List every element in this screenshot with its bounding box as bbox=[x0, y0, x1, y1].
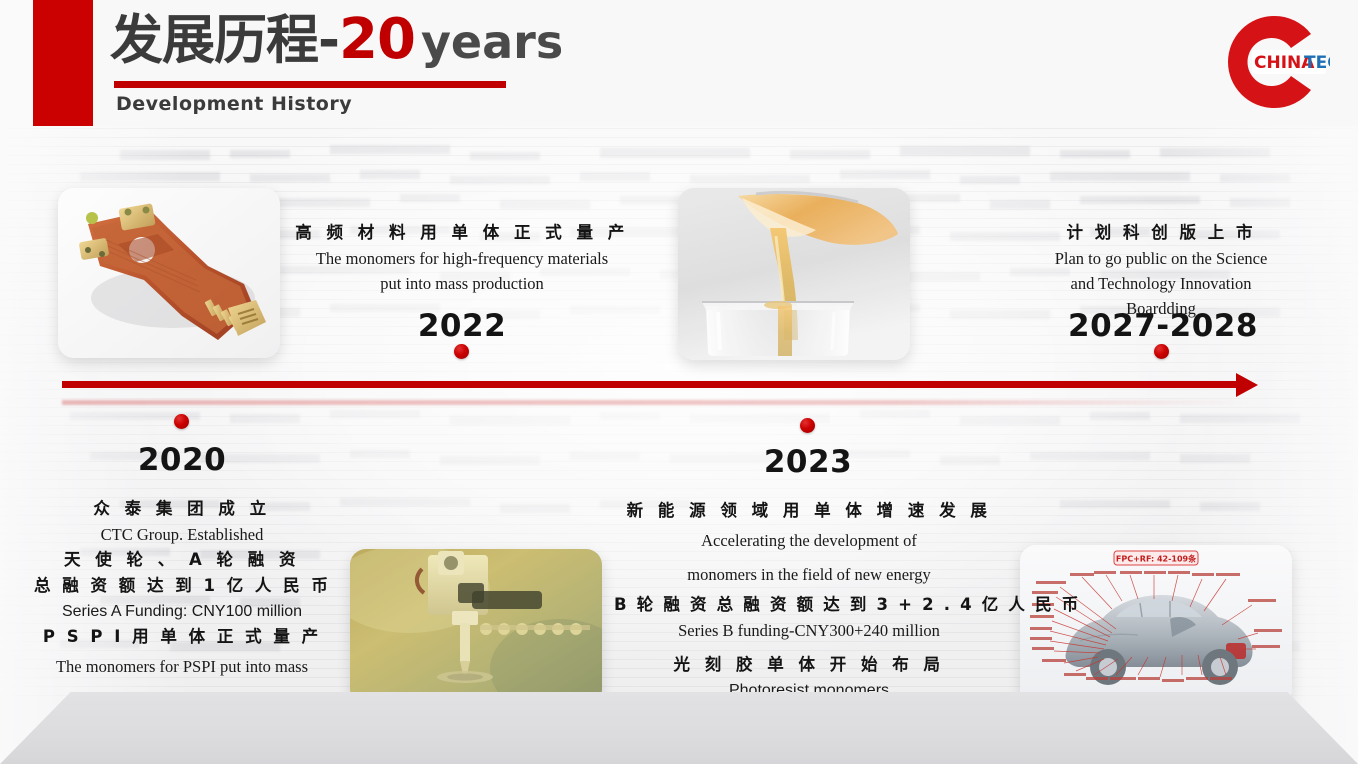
milestone-2022-text: 高 频 材 料 用 单 体 正 式 量 产 The monomers for h… bbox=[276, 220, 648, 296]
timeline-axis bbox=[62, 378, 1258, 394]
milestone-2027-line-0: 计 划 科 创 版 上 市 bbox=[1030, 220, 1292, 246]
milestone-2020-line-4: Series A Funding: CNY100 million bbox=[34, 599, 330, 624]
milestone-2023-line-3: B 轮 融 资 总 融 资 额 达 到 3 + 2 . 4 亿 人 民 币 bbox=[614, 592, 1004, 618]
slide-canvas: 发展历程-20years Development History CHINA T… bbox=[0, 0, 1358, 764]
timeline-axis-reflection bbox=[62, 400, 1252, 405]
dispensing-machine-photo bbox=[350, 549, 602, 705]
fpc-flex-circuit-photo bbox=[58, 188, 280, 358]
title-group: 发展历程-20years Development History bbox=[110, 8, 563, 115]
timeline-dot-2022[interactable] bbox=[454, 344, 469, 359]
chinatech-logo[interactable]: CHINA TECH bbox=[1218, 8, 1330, 116]
milestone-2020-line-5: P S P I 用 单 体 正 式 量 产 bbox=[34, 624, 330, 650]
page-title: 发展历程-20years bbox=[110, 8, 563, 74]
logo-text-tech: TECH bbox=[1304, 53, 1330, 73]
milestone-2020-line-1: CTC Group. Established bbox=[34, 522, 330, 547]
milestone-year-2027: 2027-2028 bbox=[1068, 308, 1256, 344]
milestone-2023-line-1: Accelerating the development of bbox=[614, 524, 1004, 558]
title-underline-rule bbox=[114, 81, 506, 88]
milestone-year-2023: 2023 bbox=[742, 444, 874, 480]
timeline-dot-2027[interactable] bbox=[1154, 344, 1169, 359]
milestone-year-2022: 2022 bbox=[396, 308, 528, 344]
milestone-2020-text: 众 泰 集 团 成 立 CTC Group. Established 天 使 轮… bbox=[34, 496, 330, 718]
milestone-2022-line-2: put into mass production bbox=[276, 271, 648, 296]
page-title-years: years bbox=[421, 15, 563, 69]
milestone-2020-line-6: The monomers for PSPI put into mass bbox=[34, 650, 330, 684]
milestone-2027-line-2: and Technology Innovation bbox=[1030, 271, 1292, 296]
bottom-decorative-band bbox=[0, 692, 1358, 764]
milestone-2020-line-0: 众 泰 集 团 成 立 bbox=[34, 496, 330, 522]
milestone-year-2020: 2020 bbox=[116, 442, 248, 478]
milestone-2020-line-2: 天 使 轮 、 A 轮 融 资 bbox=[34, 547, 330, 573]
milestone-2023-line-5: 光 刻 胶 单 体 开 始 布 局 bbox=[614, 652, 1004, 678]
slide-header: 发展历程-20years Development History CHINA T… bbox=[0, 0, 1358, 128]
header-red-accent-block bbox=[33, 0, 93, 126]
milestone-2020-line-3: 总 融 资 额 达 到 1 亿 人 民 币 bbox=[34, 573, 330, 599]
milestone-2027-line-1: Plan to go public on the Science bbox=[1030, 246, 1292, 271]
automotive-diagram-badge: FPC+RF: 42-109条 bbox=[1116, 554, 1197, 564]
milestone-2023-text: 新 能 源 领 域 用 单 体 增 速 发 展 Accelerating the… bbox=[614, 498, 1004, 703]
page-title-cn: 发展历程- bbox=[110, 10, 339, 71]
milestone-2023-spacer bbox=[614, 643, 1004, 652]
timeline-dot-2020[interactable] bbox=[174, 414, 189, 429]
milestone-2022-line-1: The monomers for high-frequency material… bbox=[276, 246, 648, 271]
page-title-number: 20 bbox=[339, 7, 415, 72]
timeline-dot-2023[interactable] bbox=[800, 418, 815, 433]
amber-liquid-pouring-photo bbox=[678, 188, 910, 360]
automotive-fpc-diagram-photo: FPC+RF: 42-109条 bbox=[1020, 545, 1292, 705]
milestone-2023-line-4: Series B funding-CNY300+240 million bbox=[614, 618, 1004, 643]
milestone-2022-line-0: 高 频 材 料 用 单 体 正 式 量 产 bbox=[276, 220, 648, 246]
milestone-2027-text: 计 划 科 创 版 上 市 Plan to go public on the S… bbox=[1030, 220, 1292, 321]
timeline-arrow-head-icon bbox=[1236, 373, 1258, 397]
page-subtitle: Development History bbox=[116, 93, 563, 115]
timeline-axis-line bbox=[62, 381, 1240, 388]
milestone-2023-line-2: monomers in the field of new energy bbox=[614, 558, 1004, 592]
milestone-2023-line-0: 新 能 源 领 域 用 单 体 增 速 发 展 bbox=[614, 498, 1004, 524]
